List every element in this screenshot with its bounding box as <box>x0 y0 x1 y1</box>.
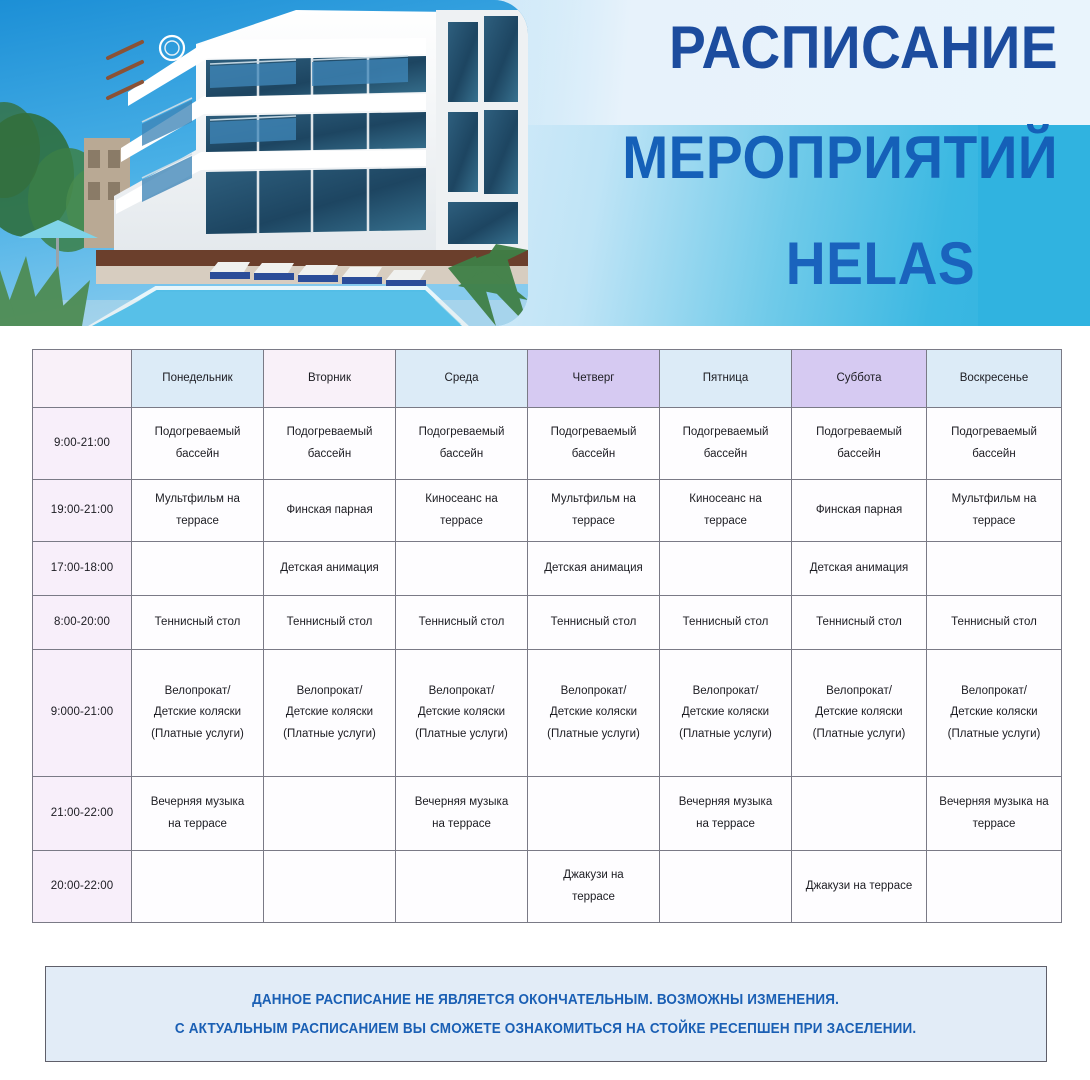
time-cell: 9:000-21:00 <box>33 650 132 777</box>
activity-cell <box>927 542 1062 596</box>
activity-cell: Детская анимация <box>792 542 927 596</box>
activity-line: Велопрокат/ <box>269 681 390 702</box>
column-header-friday: Пятница <box>660 350 792 408</box>
activity-text: Теннисный стол <box>932 612 1056 633</box>
activity-line: Велопрокат/ <box>533 681 654 702</box>
activity-cell: Киносеанс натеррасе <box>396 480 528 542</box>
corner-cell <box>33 350 132 408</box>
activity-line: (Платные услуги) <box>797 724 921 745</box>
activity-line: Детские коляски <box>269 702 390 723</box>
activity-text: Киносеанс натеррасе <box>401 489 522 532</box>
activity-cell: Финская парная <box>264 480 396 542</box>
column-header-monday: Понедельник <box>132 350 264 408</box>
activity-line: бассейн <box>269 444 390 465</box>
activity-text: Киносеанс натеррасе <box>665 489 786 532</box>
activity-line: на террасе <box>137 814 258 835</box>
activity-cell: Детская анимация <box>264 542 396 596</box>
activity-line: Подогреваемый <box>665 422 786 443</box>
activity-cell <box>927 851 1062 923</box>
activity-line: Велопрокат/ <box>797 681 921 702</box>
activity-line: Подогреваемый <box>269 422 390 443</box>
disclaimer-box: ДАННОЕ РАСПИСАНИЕ НЕ ЯВЛЯЕТСЯ ОКОНЧАТЕЛЬ… <box>45 966 1047 1062</box>
activity-text: Финская парная <box>269 500 390 521</box>
activity-line: Детская анимация <box>533 558 654 579</box>
activity-text: Теннисный стол <box>533 612 654 633</box>
activity-cell: Теннисный стол <box>264 596 396 650</box>
activity-text: Вечерняя музыкана террасе <box>401 792 522 835</box>
activity-line: Теннисный стол <box>137 612 258 633</box>
schedule-row: 8:00-20:00Теннисный столТеннисный столТе… <box>33 596 1062 650</box>
activity-line: Детские коляски <box>932 702 1056 723</box>
schedule-row: 19:00-21:00Мультфильм натеррасеФинская п… <box>33 480 1062 542</box>
activity-text: Велопрокат/Детские коляски(Платные услуг… <box>533 681 654 745</box>
activity-cell <box>528 777 660 851</box>
activity-cell: Велопрокат/Детские коляски(Платные услуг… <box>927 650 1062 777</box>
activity-cell: Вечерняя музыкана террасе <box>132 777 264 851</box>
activity-cell: Велопрокат/Детские коляски(Платные услуг… <box>660 650 792 777</box>
table-body: 9:00-21:00ПодогреваемыйбассейнПодогревае… <box>33 408 1062 923</box>
activity-text: Велопрокат/Детские коляски(Платные услуг… <box>665 681 786 745</box>
activity-cell: Подогреваемыйбассейн <box>927 408 1062 480</box>
activity-line: (Платные услуги) <box>137 724 258 745</box>
activity-line: террасе <box>932 511 1056 532</box>
activity-text: Теннисный стол <box>269 612 390 633</box>
activity-cell: Мультфильм натеррасе <box>528 480 660 542</box>
activity-cell: Подогреваемыйбассейн <box>264 408 396 480</box>
activity-line: бассейн <box>665 444 786 465</box>
activity-line: Подогреваемый <box>932 422 1056 443</box>
activity-line: бассейн <box>797 444 921 465</box>
activity-line: Вечерняя музыка <box>665 792 786 813</box>
activity-text: Теннисный стол <box>137 612 258 633</box>
activity-cell <box>264 851 396 923</box>
activity-line: Теннисный стол <box>269 612 390 633</box>
activity-line: Финская парная <box>797 500 921 521</box>
activity-line: Теннисный стол <box>401 612 522 633</box>
activity-line: Киносеанс на <box>401 489 522 510</box>
activity-text: Велопрокат/Детские коляски(Платные услуг… <box>137 681 258 745</box>
activity-line: Велопрокат/ <box>137 681 258 702</box>
poster-title: РАСПИСАНИЕ МЕРОПРИЯТИЙ HELAS <box>520 6 1080 316</box>
activity-line: Подогреваемый <box>797 422 921 443</box>
column-header-thursday: Четверг <box>528 350 660 408</box>
activity-text: Теннисный стол <box>665 612 786 633</box>
time-cell: 9:00-21:00 <box>33 408 132 480</box>
activity-line: террасе <box>137 511 258 532</box>
activity-text: Подогреваемыйбассейн <box>137 422 258 465</box>
activity-line: Киносеанс на <box>665 489 786 510</box>
activity-line: на террасе <box>401 814 522 835</box>
activity-line: Вечерняя музыка <box>401 792 522 813</box>
time-cell: 20:00-22:00 <box>33 851 132 923</box>
activity-line: Мультфильм на <box>137 489 258 510</box>
activity-text: Мультфильм натеррасе <box>137 489 258 532</box>
column-header-wednesday: Среда <box>396 350 528 408</box>
activity-line: (Платные услуги) <box>665 724 786 745</box>
activity-cell: Велопрокат/Детские коляски(Платные услуг… <box>792 650 927 777</box>
time-cell: 21:00-22:00 <box>33 777 132 851</box>
activity-cell: Подогреваемыйбассейн <box>792 408 927 480</box>
schedule-table-wrapper: Понедельник Вторник Среда Четверг Пятниц… <box>32 349 1058 923</box>
activity-cell <box>660 851 792 923</box>
activity-cell <box>264 777 396 851</box>
column-header-sunday: Воскресенье <box>927 350 1062 408</box>
activity-cell <box>396 542 528 596</box>
activity-text: Мультфильм натеррасе <box>932 489 1056 532</box>
activity-line: террасе <box>932 814 1056 835</box>
activity-line: террасе <box>665 511 786 532</box>
activity-cell: Подогреваемыйбассейн <box>528 408 660 480</box>
activity-line: Теннисный стол <box>797 612 921 633</box>
activity-line: террасе <box>533 887 654 908</box>
schedule-row: 9:00-21:00ПодогреваемыйбассейнПодогревае… <box>33 408 1062 480</box>
activity-cell: Джакузи натеррасе <box>528 851 660 923</box>
activity-text: Подогреваемыйбассейн <box>932 422 1056 465</box>
activity-cell: Велопрокат/Детские коляски(Платные услуг… <box>264 650 396 777</box>
activity-text: Теннисный стол <box>401 612 522 633</box>
activity-text: Подогреваемыйбассейн <box>401 422 522 465</box>
activity-line: (Платные услуги) <box>533 724 654 745</box>
activity-line: Подогреваемый <box>401 422 522 443</box>
activity-text: Велопрокат/Детские коляски(Платные услуг… <box>797 681 921 745</box>
activity-cell: Теннисный стол <box>132 596 264 650</box>
activity-line: Велопрокат/ <box>932 681 1056 702</box>
activity-line: Финская парная <box>269 500 390 521</box>
disclaimer-line-2: С АКТУАЛЬНЫМ РАСПИСАНИЕМ ВЫ СМОЖЕТЕ ОЗНА… <box>175 1021 916 1037</box>
activity-cell: Киносеанс натеррасе <box>660 480 792 542</box>
activity-text: Финская парная <box>797 500 921 521</box>
activity-text: Детская анимация <box>797 558 921 579</box>
activity-line: Вечерняя музыка на <box>932 792 1056 813</box>
activity-line: Детская анимация <box>797 558 921 579</box>
activity-cell: Вечерняя музыкана террасе <box>396 777 528 851</box>
activity-text: Вечерняя музыкана террасе <box>137 792 258 835</box>
activity-cell: Теннисный стол <box>927 596 1062 650</box>
header-row: Понедельник Вторник Среда Четверг Пятниц… <box>33 350 1062 408</box>
activity-line: Детская анимация <box>269 558 390 579</box>
activity-line: Вечерняя музыка <box>137 792 258 813</box>
activity-text: Джакузи на террасе <box>797 876 921 897</box>
table-head: Понедельник Вторник Среда Четверг Пятниц… <box>33 350 1062 408</box>
activity-cell: Теннисный стол <box>660 596 792 650</box>
time-cell: 8:00-20:00 <box>33 596 132 650</box>
activity-line: Детские коляски <box>401 702 522 723</box>
activity-line: бассейн <box>137 444 258 465</box>
activity-text: Подогреваемыйбассейн <box>533 422 654 465</box>
activity-line: Мультфильм на <box>533 489 654 510</box>
schedule-row: 20:00-22:00Джакузи натеррасеДжакузи на т… <box>33 851 1062 923</box>
activity-text: Джакузи натеррасе <box>533 865 654 908</box>
column-header-saturday: Суббота <box>792 350 927 408</box>
activity-line: Мультфильм на <box>932 489 1056 510</box>
activity-cell: Вечерняя музыка натеррасе <box>927 777 1062 851</box>
activity-cell: Теннисный стол <box>528 596 660 650</box>
activity-line: Велопрокат/ <box>401 681 522 702</box>
time-cell: 17:00-18:00 <box>33 542 132 596</box>
activity-line: Детские коляски <box>533 702 654 723</box>
activity-line: (Платные услуги) <box>932 724 1056 745</box>
activity-cell: Финская парная <box>792 480 927 542</box>
activity-text: Велопрокат/Детские коляски(Платные услуг… <box>269 681 390 745</box>
activity-line: на террасе <box>665 814 786 835</box>
activity-line: Подогреваемый <box>533 422 654 443</box>
activity-line: (Платные услуги) <box>401 724 522 745</box>
activity-text: Мультфильм натеррасе <box>533 489 654 532</box>
activity-line: Детские коляски <box>797 702 921 723</box>
activity-line: Теннисный стол <box>932 612 1056 633</box>
activity-cell <box>132 851 264 923</box>
activity-cell: Детская анимация <box>528 542 660 596</box>
activity-cell <box>792 777 927 851</box>
activity-line: Джакузи на террасе <box>797 876 921 897</box>
activity-text: Подогреваемыйбассейн <box>269 422 390 465</box>
activity-line: Джакузи на <box>533 865 654 886</box>
disclaimer-line-1: ДАННОЕ РАСПИСАНИЕ НЕ ЯВЛЯЕТСЯ ОКОНЧАТЕЛЬ… <box>252 992 839 1008</box>
title-line-3: HELAS <box>563 234 1058 294</box>
activity-text: Велопрокат/Детские коляски(Платные услуг… <box>401 681 522 745</box>
activity-line: Детские коляски <box>137 702 258 723</box>
activity-line: (Платные услуги) <box>269 724 390 745</box>
time-cell: 19:00-21:00 <box>33 480 132 542</box>
activity-text: Подогреваемыйбассейн <box>797 422 921 465</box>
activity-line: террасе <box>401 511 522 532</box>
activity-cell: Подогреваемыйбассейн <box>132 408 264 480</box>
schedule-row: 17:00-18:00Детская анимацияДетская анима… <box>33 542 1062 596</box>
activity-cell: Теннисный стол <box>396 596 528 650</box>
activity-text: Велопрокат/Детские коляски(Платные услуг… <box>932 681 1056 745</box>
activity-cell: Велопрокат/Детские коляски(Платные услуг… <box>528 650 660 777</box>
activity-cell: Мультфильм натеррасе <box>927 480 1062 542</box>
activity-line: террасе <box>533 511 654 532</box>
activity-line: бассейн <box>932 444 1056 465</box>
column-header-tuesday: Вторник <box>264 350 396 408</box>
activity-cell: Теннисный стол <box>792 596 927 650</box>
activity-cell: Джакузи на террасе <box>792 851 927 923</box>
title-line-2: МЕРОПРИЯТИЙ <box>563 128 1058 188</box>
activity-cell: Подогреваемыйбассейн <box>660 408 792 480</box>
activity-cell: Подогреваемыйбассейн <box>396 408 528 480</box>
activity-line: Велопрокат/ <box>665 681 786 702</box>
activity-cell: Велопрокат/Детские коляски(Платные услуг… <box>396 650 528 777</box>
hotel-pool-photo <box>0 0 528 326</box>
schedule-table: Понедельник Вторник Среда Четверг Пятниц… <box>32 349 1062 923</box>
schedule-row: 21:00-22:00Вечерняя музыкана террасеВече… <box>33 777 1062 851</box>
activity-cell <box>396 851 528 923</box>
activity-line: бассейн <box>533 444 654 465</box>
activity-cell <box>132 542 264 596</box>
title-line-1: РАСПИСАНИЕ <box>563 18 1058 78</box>
activity-cell: Вечерняя музыкана террасе <box>660 777 792 851</box>
activity-text: Вечерняя музыка натеррасе <box>932 792 1056 835</box>
activity-line: Детские коляски <box>665 702 786 723</box>
activity-line: Теннисный стол <box>665 612 786 633</box>
activity-line: Подогреваемый <box>137 422 258 443</box>
activity-text: Детская анимация <box>269 558 390 579</box>
schedule-poster: РАСПИСАНИЕ МЕРОПРИЯТИЙ HELAS Понедельник… <box>0 0 1090 1080</box>
activity-text: Подогреваемыйбассейн <box>665 422 786 465</box>
activity-cell: Мультфильм натеррасе <box>132 480 264 542</box>
activity-text: Вечерняя музыкана террасе <box>665 792 786 835</box>
schedule-row: 9:000-21:00Велопрокат/Детские коляски(Пл… <box>33 650 1062 777</box>
activity-line: Теннисный стол <box>533 612 654 633</box>
activity-cell: Велопрокат/Детские коляски(Платные услуг… <box>132 650 264 777</box>
activity-line: бассейн <box>401 444 522 465</box>
activity-text: Теннисный стол <box>797 612 921 633</box>
activity-text: Детская анимация <box>533 558 654 579</box>
activity-cell <box>660 542 792 596</box>
